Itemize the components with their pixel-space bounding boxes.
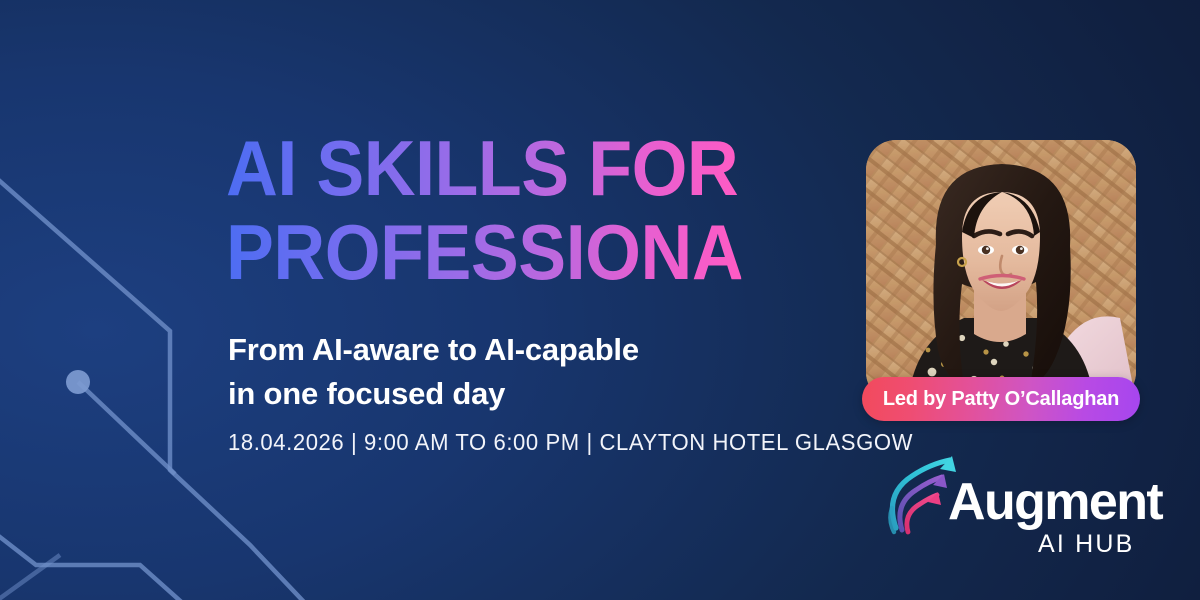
subtitle-line-1: From AI-aware to AI-capable <box>228 328 639 372</box>
status-badge: Led by Patty O’Callaghan <box>862 377 1140 421</box>
subtitle: From AI-aware to AI-capable in one focus… <box>228 328 639 416</box>
speaker-photo-block <box>866 140 1136 402</box>
circuit-trace-3 <box>0 506 215 600</box>
subtitle-line-2: in one focused day <box>228 372 639 416</box>
logo-wordmark: Augment <box>948 474 1162 530</box>
logo-tagline: AI HUB <box>1038 530 1135 558</box>
circuit-trace-2 <box>78 382 175 474</box>
led-by-label: Led by Patty O’Callaghan <box>883 388 1119 411</box>
headline-line-2: PROFESSIONALS <box>226 210 796 294</box>
circuit-node-dot <box>66 370 90 394</box>
speaker-portrait-photo <box>866 140 1136 402</box>
event-banner: AI SKILLS FOR PROFESSIONALS From AI-awar… <box>0 0 1200 600</box>
circuit-trace-4 <box>0 555 60 600</box>
event-dateline: 18.04.2026 | 9:00 AM TO 6:00 PM | CLAYTO… <box>228 428 913 456</box>
page-title: AI SKILLS FOR PROFESSIONALS <box>226 126 846 294</box>
headline-line-1: AI SKILLS FOR <box>226 126 796 210</box>
brand-logo: Augment AI HUB <box>886 452 1132 568</box>
